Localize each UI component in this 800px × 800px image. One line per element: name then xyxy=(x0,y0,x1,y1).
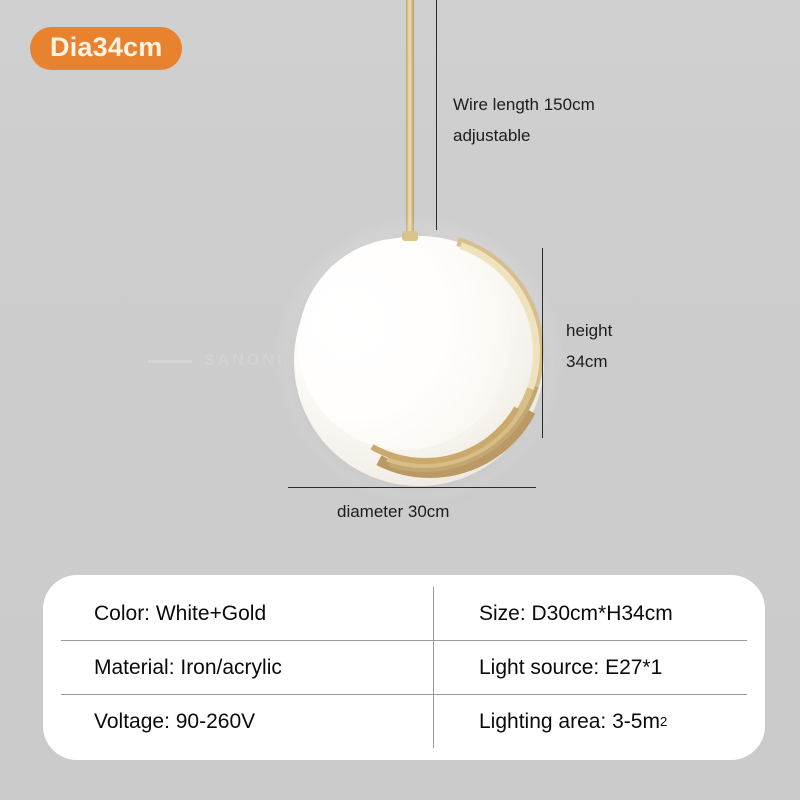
specification-card: Color: White+Gold Size: D30cm*H34cm Mate… xyxy=(43,575,765,760)
spec-size: Size: D30cm*H34cm xyxy=(433,587,747,640)
wire-dimension-label: Wire length 150cm adjustable xyxy=(453,89,595,152)
spec-material: Material: Iron/acrylic xyxy=(61,656,433,680)
diameter-dimension-line xyxy=(288,487,536,488)
spec-lighting-area-text: Lighting area: 3-5m xyxy=(479,710,660,734)
spec-row: Color: White+Gold Size: D30cm*H34cm xyxy=(61,587,747,641)
spec-color: Color: White+Gold xyxy=(61,602,433,626)
pendant-lamp-fixture xyxy=(294,236,544,486)
height-label-line1: height xyxy=(566,315,612,346)
suspension-rod xyxy=(406,0,414,240)
spec-row: Material: Iron/acrylic Light source: E27… xyxy=(61,641,747,695)
diameter-badge: Dia34cm xyxy=(30,27,182,70)
wire-label-line2: adjustable xyxy=(453,120,595,151)
product-image-canvas: Dia34cm SANONI Wire length 150cm adjusta… xyxy=(0,0,800,800)
rod-cap xyxy=(402,231,418,241)
diameter-dimension-label: diameter 30cm xyxy=(337,496,449,527)
spec-lighting-area: Lighting area: 3-5m2 xyxy=(433,695,747,748)
watermark-text: SANONI xyxy=(204,352,284,370)
height-dimension-label: height 34cm xyxy=(566,315,612,378)
watermark: SANONI xyxy=(148,352,284,370)
wire-dimension-line xyxy=(436,0,437,230)
spec-voltage: Voltage: 90-260V xyxy=(61,710,433,734)
watermark-dash-icon xyxy=(148,360,192,363)
spec-row: Voltage: 90-260V Lighting area: 3-5m2 xyxy=(61,695,747,748)
height-dimension-line xyxy=(542,248,543,438)
height-label-line2: 34cm xyxy=(566,346,612,377)
spec-light-source: Light source: E27*1 xyxy=(433,641,747,694)
wire-label-line1: Wire length 150cm xyxy=(453,89,595,120)
spec-lighting-area-unit-sup: 2 xyxy=(660,714,667,729)
